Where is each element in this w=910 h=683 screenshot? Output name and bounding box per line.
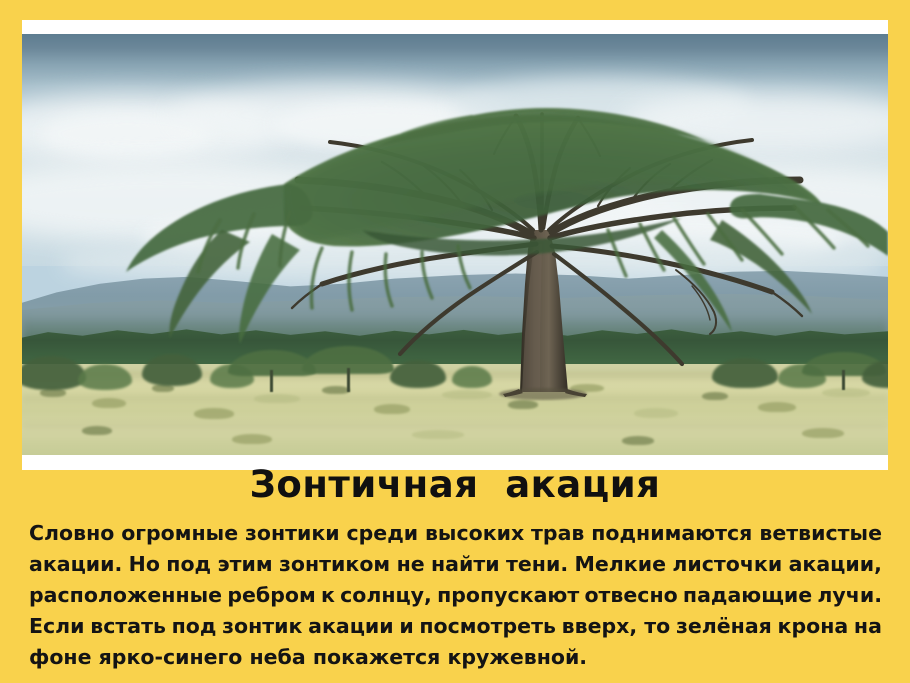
paragraph-line-1: Словно огромные зонтики среди высоких тр… [29, 518, 882, 549]
paragraph-line-2: акации. Но под этим зонтиком не найти те… [29, 549, 882, 580]
description-paragraph: Словно огромные зонтики среди высоких тр… [29, 518, 882, 673]
page-title: Зонтичная акация [0, 466, 910, 505]
umbrella-acacia-tree [22, 34, 888, 455]
acacia-canopy-haze [286, 115, 818, 241]
savanna-acacia-photo [22, 34, 888, 455]
paragraph-line-3: расположенные ребром к солнцу, пропускаю… [29, 580, 882, 611]
slide: Зонтичная акация Словно огромные зонтики… [0, 0, 910, 683]
paragraph-line-5: фоне ярко-синего неба покажется кружевно… [29, 642, 882, 673]
photo-frame [22, 20, 888, 470]
acacia-trunk [499, 230, 587, 400]
paragraph-line-4: Если встать под зонтик акации и посмотре… [29, 611, 882, 642]
